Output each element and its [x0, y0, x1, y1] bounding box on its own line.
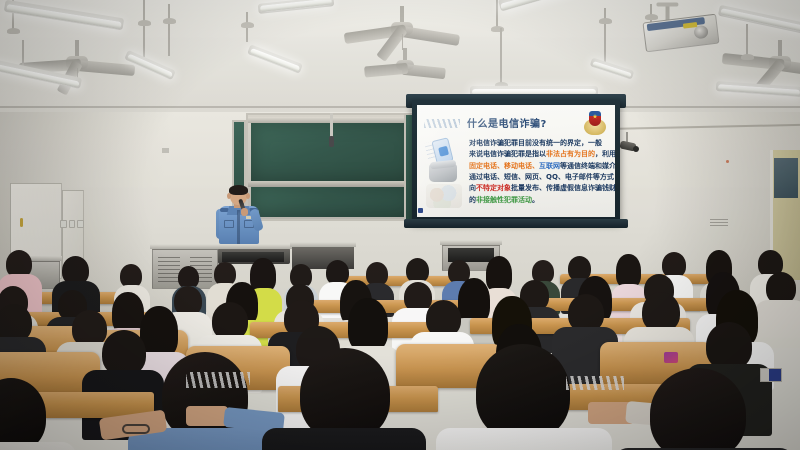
- projection-screen: 什么是电信诈骗?: [412, 100, 620, 222]
- wall-sign-right: [710, 218, 728, 226]
- screen-pull-grip: [329, 136, 334, 147]
- wall-fixture-left: [162, 148, 169, 153]
- screen-indicator: [418, 208, 423, 213]
- speaker-police-officer: [216, 186, 262, 252]
- slide-body-text: 对电信诈骗犯罪目前没有统一的界定，一般来说电信诈骗犯罪是指以非法占有为目的，利用…: [469, 138, 607, 206]
- screen-frame: 什么是电信诈骗?: [412, 100, 620, 222]
- phone-in-hand: [664, 352, 678, 363]
- slide-text-segment: 来说电信诈骗犯罪是指以: [469, 150, 546, 158]
- folded-hands: [186, 406, 228, 426]
- slide-text-segment: 对电信诈骗犯罪目前没有统一的界定，一般: [469, 139, 602, 147]
- slide-artwork: [426, 139, 464, 209]
- slide-text-segment: ，利用: [595, 150, 615, 158]
- ceiling-seam: [0, 106, 800, 108]
- slide-text-segment: 等通信终端和媒介，: [560, 162, 615, 170]
- classroom-photo-scene: 什么是电信诈骗?: [0, 0, 800, 450]
- podium-monitor: [222, 252, 284, 262]
- people-illustration-icon: [426, 184, 462, 208]
- slide-body-line: 的非接触性犯罪活动。: [469, 195, 607, 206]
- slide-text-segment: 向: [469, 184, 476, 192]
- wall-outlets: [60, 220, 84, 228]
- podium-vent: [158, 256, 180, 282]
- slide-text-segment: 不特定对象: [476, 184, 511, 192]
- glasses-on-desk: [122, 424, 150, 434]
- slide-body-line: 固定电话、移动电话、互联网等通信终端和媒介，: [469, 161, 607, 172]
- slide-text-segment: 批量发布、传播虚假信息诈骗钱财: [511, 184, 615, 192]
- surveillance-camera-icon: [620, 142, 638, 152]
- shirt-graphic-right: [566, 376, 624, 390]
- slide-text-segment: 的: [469, 196, 476, 204]
- screen-bottom-bar: [404, 219, 628, 228]
- ceiling-fan: [385, 22, 419, 38]
- ceiling-fan: [62, 56, 92, 70]
- podium-top-center: [216, 244, 294, 249]
- landline-phone-icon: [429, 164, 457, 182]
- slide-text-segment: 移动电话、: [504, 162, 539, 170]
- slide-hatch-decoration: [424, 119, 460, 128]
- presentation-slide: 什么是电信诈骗?: [417, 105, 615, 217]
- slide-text-segment: 通过电话、短信、网页、QQ、电子邮件等方式: [469, 173, 614, 181]
- slide-body-line: 通过电话、短信、网页、QQ、电子邮件等方式: [469, 172, 607, 183]
- slide-text-segment: 固定电话、: [469, 162, 504, 170]
- police-emblem-icon: [584, 111, 606, 135]
- slide-text-segment: 非法占有为目的: [546, 150, 595, 158]
- slide-text-segment: 互联网: [539, 162, 560, 170]
- flag-patch: [760, 368, 782, 382]
- wall-marker: [726, 160, 729, 163]
- door-handle: [20, 218, 23, 227]
- slide-text-segment: 。: [532, 196, 539, 204]
- slide-text-segment: 非接触性犯罪活动: [476, 196, 532, 204]
- screen-surface: 什么是电信诈骗?: [417, 105, 615, 217]
- door-right-window: [774, 158, 798, 198]
- ceiling-fan: [765, 56, 795, 70]
- slide-body-line: 对电信诈骗犯罪目前没有统一的界定，一般: [469, 138, 607, 149]
- slide-title: 什么是电信诈骗?: [467, 115, 547, 130]
- slide-body-line: 来说电信诈骗犯罪是指以非法占有为目的，利用: [469, 149, 607, 160]
- ceiling-fan: [392, 60, 418, 72]
- slide-body-line: 向不特定对象批量发布、传播虚假信息诈骗钱财: [469, 183, 607, 194]
- shirt-graphic-left: [186, 372, 250, 388]
